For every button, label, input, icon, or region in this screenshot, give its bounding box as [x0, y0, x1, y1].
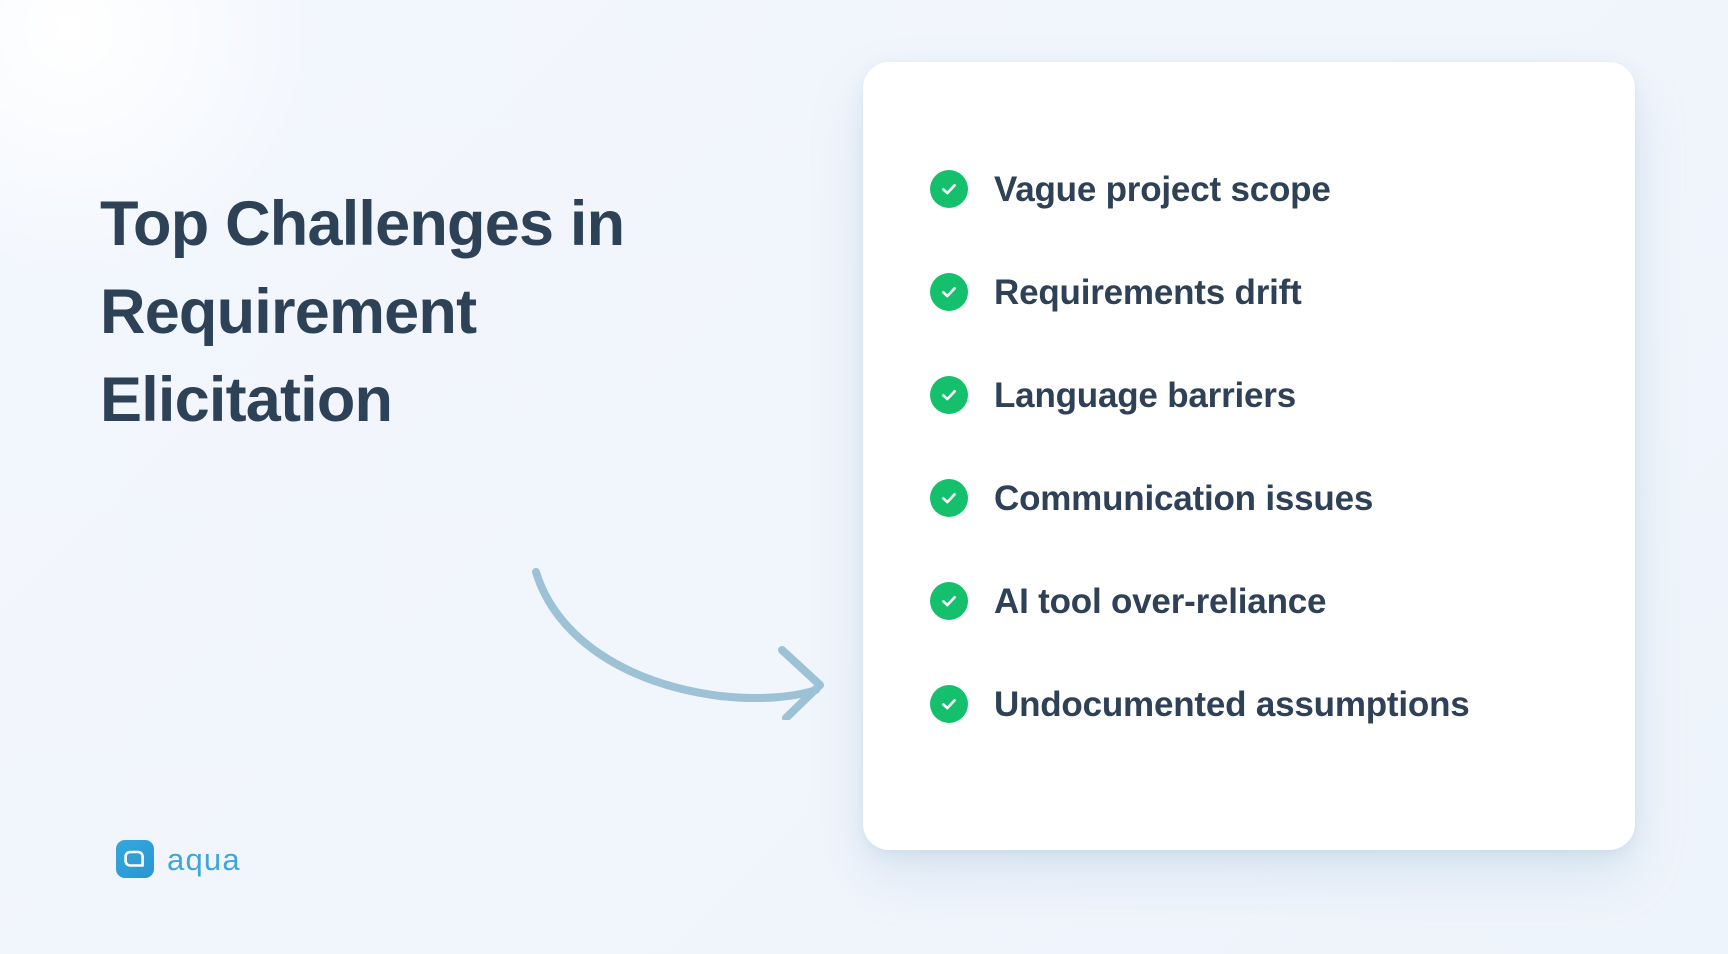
list-item: Vague project scope [930, 167, 1605, 211]
list-item: Requirements drift [930, 270, 1605, 314]
list-item: AI tool over-reliance [930, 579, 1605, 623]
challenges-card: Vague project scope Requirements drift L… [863, 62, 1635, 850]
page-title-line-2: Requirement [100, 268, 740, 356]
check-circle-icon [930, 479, 968, 517]
left-column: Top Challenges in Requirement Elicitatio… [100, 0, 800, 954]
aqua-logo[interactable]: aqua [116, 840, 241, 878]
aqua-logo-mark-icon [116, 840, 154, 878]
aqua-wordmark: aqua [167, 844, 241, 875]
list-item: Communication issues [930, 476, 1605, 520]
list-item-label: Undocumented assumptions [994, 687, 1470, 722]
list-item: Language barriers [930, 373, 1605, 417]
list-item-label: AI tool over-reliance [994, 584, 1326, 619]
list-item-label: Language barriers [994, 378, 1296, 413]
curved-arrow-right-icon [530, 560, 890, 720]
list-item: Undocumented assumptions [930, 682, 1605, 726]
infographic-canvas: Top Challenges in Requirement Elicitatio… [0, 0, 1728, 954]
list-item-label: Communication issues [994, 481, 1373, 516]
page-title-line-3: Elicitation [100, 356, 740, 444]
list-item-label: Requirements drift [994, 275, 1302, 310]
check-circle-icon [930, 273, 968, 311]
check-circle-icon [930, 170, 968, 208]
challenges-list: Vague project scope Requirements drift L… [930, 167, 1605, 726]
list-item-label: Vague project scope [994, 172, 1331, 207]
check-circle-icon [930, 685, 968, 723]
check-circle-icon [930, 582, 968, 620]
page-title-line-1: Top Challenges in [100, 180, 740, 268]
page-title: Top Challenges in Requirement Elicitatio… [100, 180, 740, 444]
check-circle-icon [930, 376, 968, 414]
